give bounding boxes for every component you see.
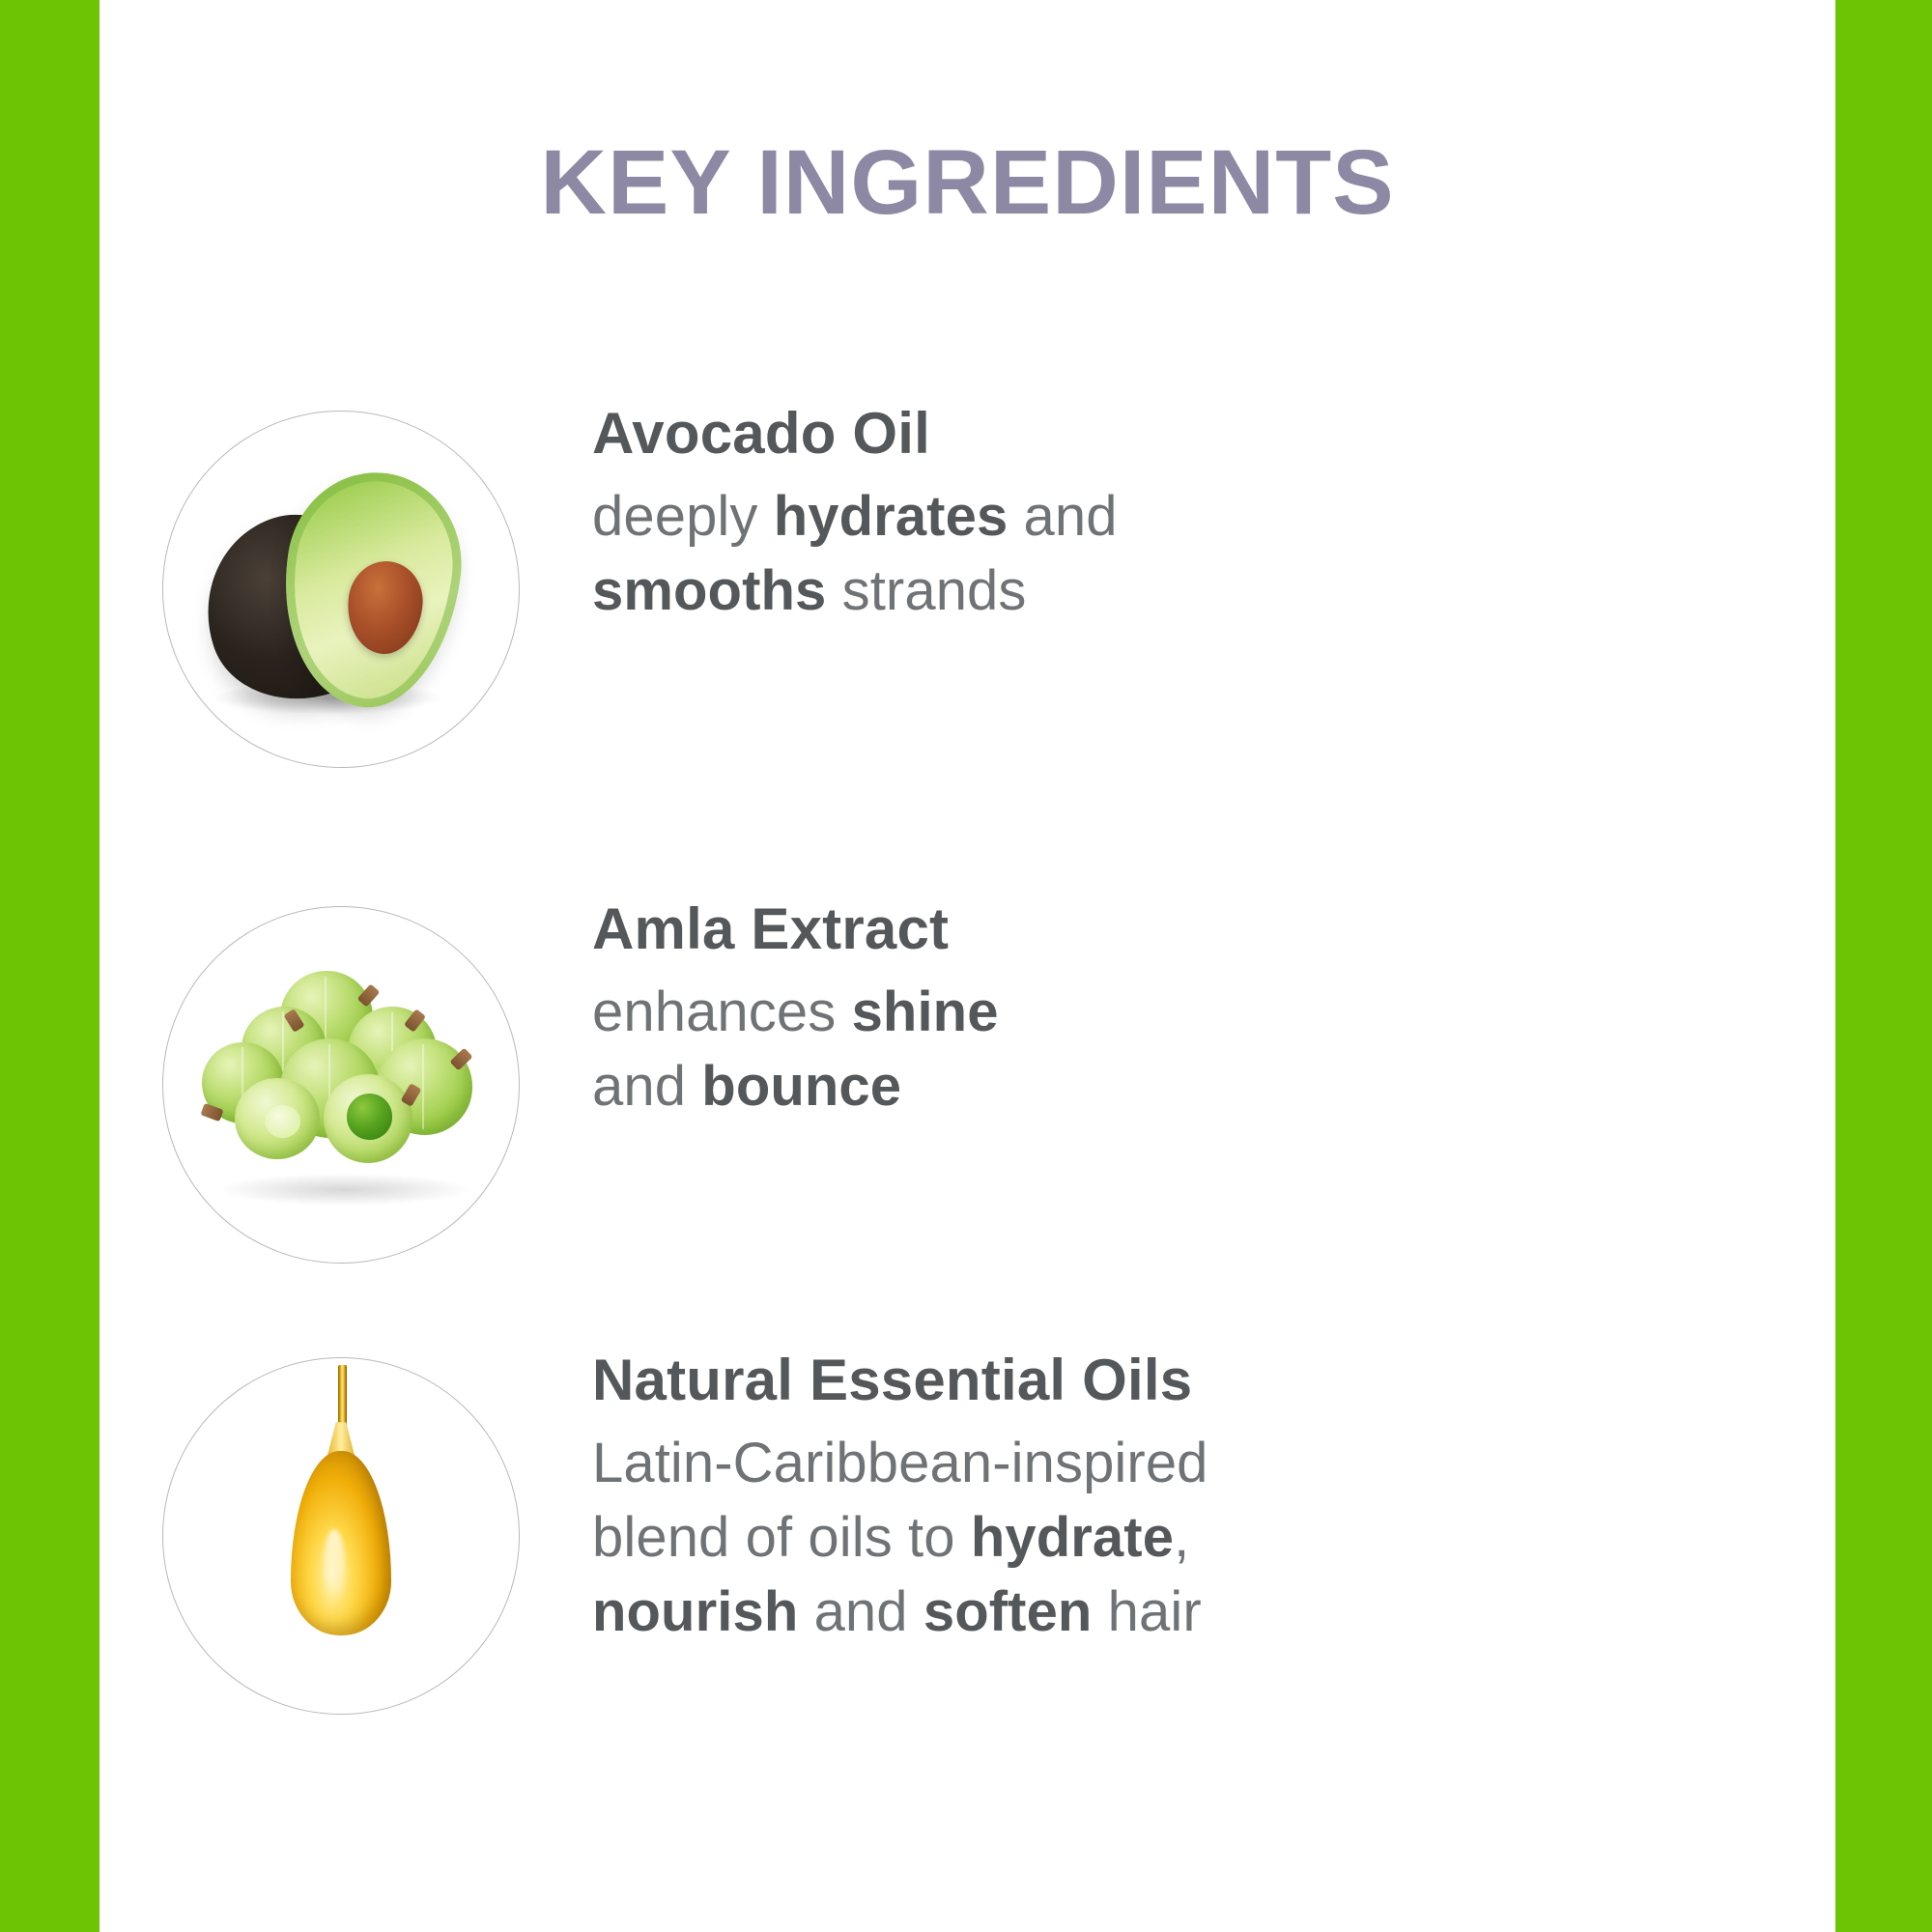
plain-text: deeply: [592, 485, 774, 548]
ingredient-row-amla-extract: Amla Extract enhances shineand bounce: [99, 896, 1835, 1264]
ingredient-thumb-wrap-1: [99, 896, 582, 1264]
page-title: KEY INGREDIENTS: [99, 135, 1835, 232]
description-line: enhances shine: [592, 975, 1835, 1049]
description-line: blend of oils to hydrate,: [592, 1500, 1835, 1575]
ingredient-row-avocado-oil: Avocado Oil deeply hydrates andsmooths s…: [99, 401, 1835, 768]
ingredient-name-1: Amla Extract: [592, 896, 1835, 961]
ingredient-name-0: Avocado Oil: [592, 401, 1835, 466]
ingredient-name-2: Natural Essential Oils: [592, 1348, 1835, 1412]
description-line: smooths strands: [592, 554, 1835, 628]
ingredient-description-1: enhances shineand bounce: [592, 975, 1835, 1123]
plain-text: blend of oils to: [592, 1506, 971, 1569]
emphasis-text: soften: [923, 1580, 1093, 1643]
ingredient-description-0: deeply hydrates andsmooths strands: [592, 479, 1835, 628]
plain-text: and: [1008, 485, 1117, 548]
plain-text: ,: [1174, 1506, 1189, 1569]
emphasis-text: nourish: [592, 1580, 798, 1643]
ingredient-text-1: Amla Extract enhances shineand bounce: [582, 896, 1835, 1123]
ingredient-row-natural-essential-oils: Natural Essential Oils Latin-Caribbean-i…: [99, 1348, 1835, 1715]
ingredient-thumb-wrap-2: [99, 1348, 582, 1715]
ingredient-description-2: Latin-Caribbean-inspiredblend of oils to…: [592, 1426, 1835, 1649]
oil-droplet-photo: [162, 1357, 520, 1715]
emphasis-text: hydrate: [971, 1506, 1174, 1569]
berry-cut-right: [324, 1074, 412, 1163]
oil-drop-highlight: [324, 1529, 345, 1607]
right-green-bar: [1835, 0, 1932, 1932]
emphasis-text: hydrates: [774, 485, 1009, 548]
description-line: Latin-Caribbean-inspired: [592, 1426, 1835, 1500]
ingredient-thumb-wrap-0: [99, 401, 582, 768]
plain-text: and: [592, 1055, 701, 1118]
plain-text: enhances: [592, 980, 852, 1043]
description-line: nourish and soften hair: [592, 1575, 1835, 1649]
avocado-photo: [162, 411, 520, 768]
berries-shadow: [220, 1174, 469, 1206]
plain-text: Latin-Caribbean-inspired: [592, 1432, 1208, 1494]
amla-berries-photo: [162, 906, 520, 1264]
description-line: deeply hydrates and: [592, 479, 1835, 554]
ingredient-text-0: Avocado Oil deeply hydrates andsmooths s…: [582, 401, 1835, 628]
emphasis-text: smooths: [592, 559, 826, 622]
left-green-bar: [0, 0, 99, 1932]
description-line: and bounce: [592, 1049, 1835, 1123]
plain-text: and: [798, 1580, 923, 1643]
emphasis-text: bounce: [701, 1055, 901, 1118]
ingredient-text-2: Natural Essential Oils Latin-Caribbean-i…: [582, 1348, 1835, 1650]
emphasis-text: shine: [852, 980, 999, 1043]
berry-seed: [347, 1094, 393, 1140]
plain-text: hair: [1092, 1580, 1201, 1643]
berry-cut-left: [235, 1078, 320, 1160]
plain-text: strands: [826, 559, 1026, 622]
key-ingredients-card: KEY INGREDIENTS Avocado Oil deeply hydra…: [0, 0, 1932, 1932]
